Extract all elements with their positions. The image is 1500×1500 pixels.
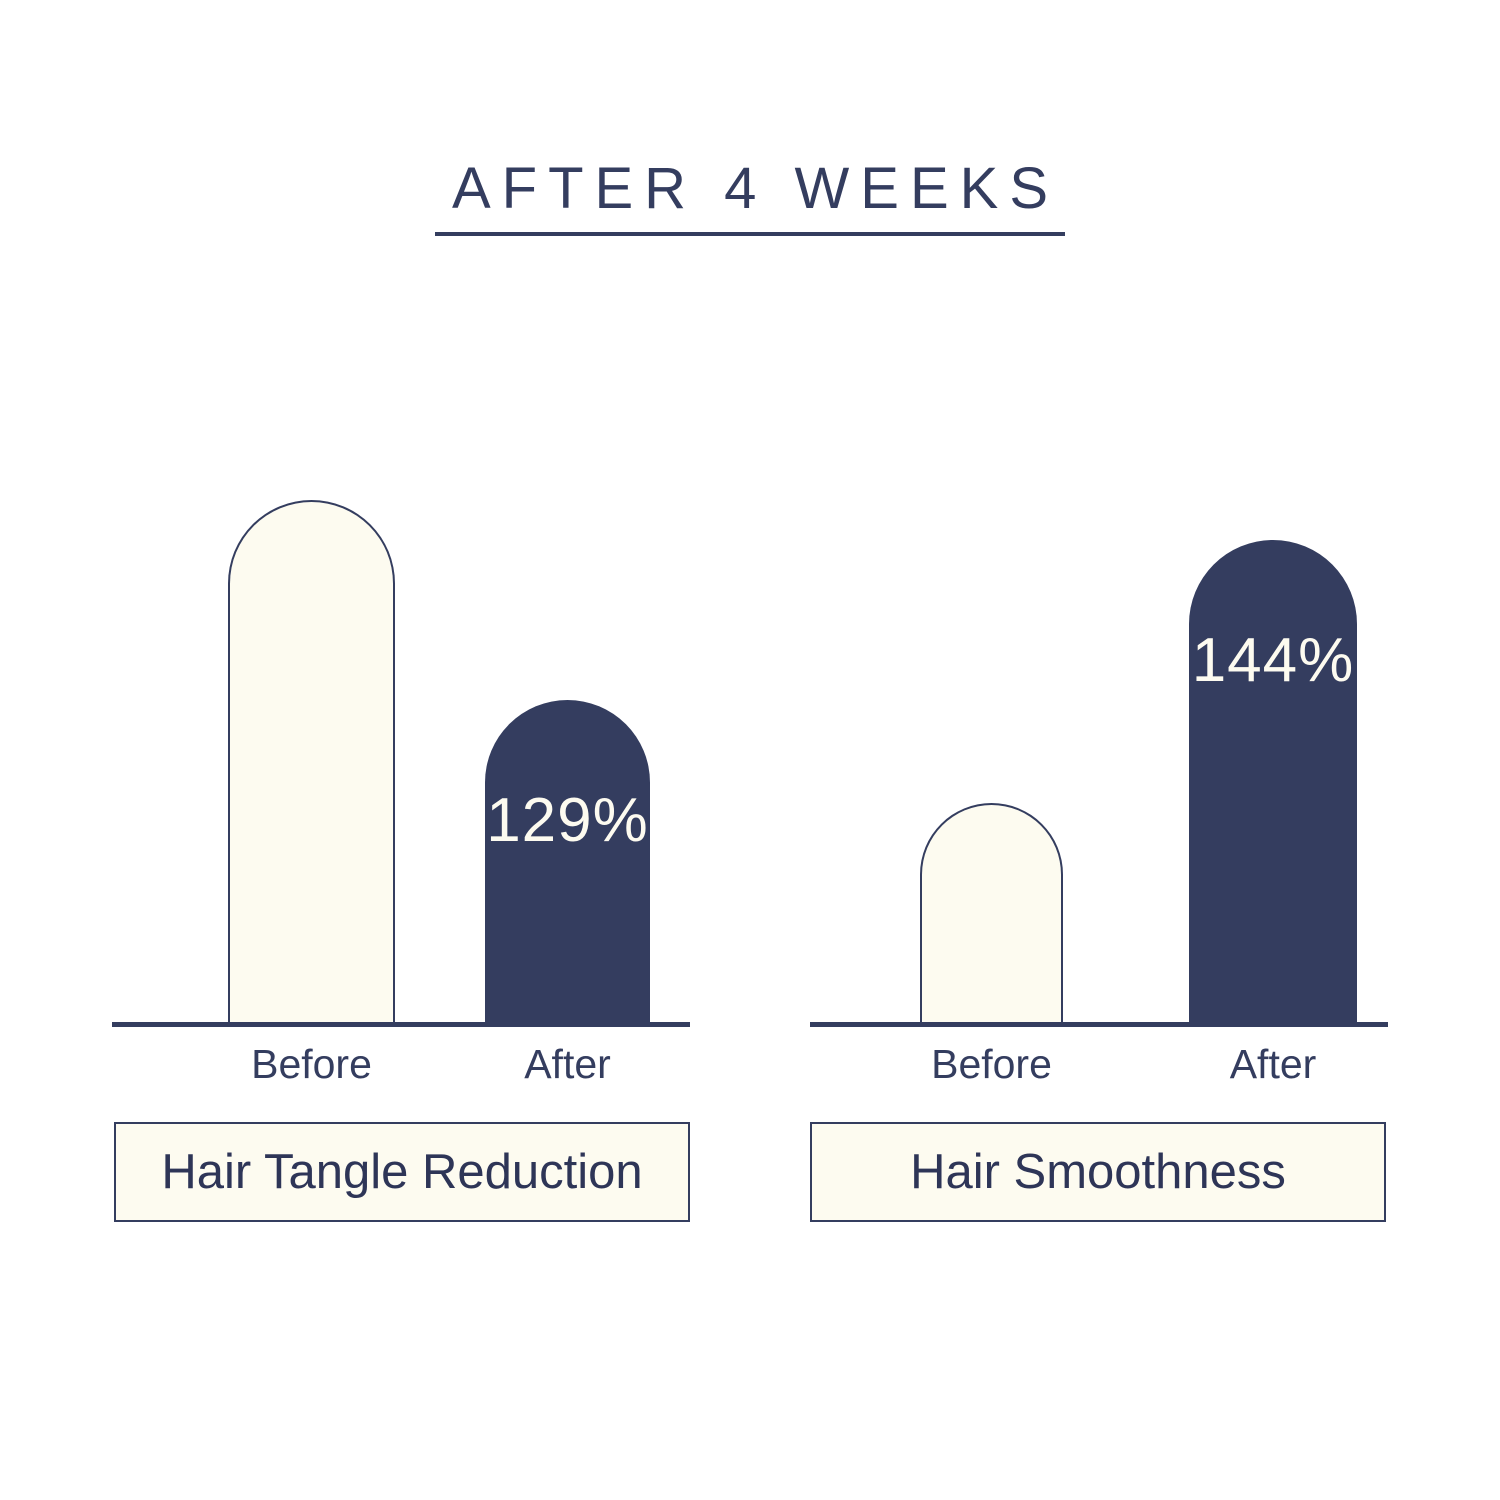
tick-labels-left: Before After — [112, 1022, 690, 1102]
caption-text-hair-smoothness: Hair Smoothness — [910, 1148, 1286, 1197]
bar-after-right: 144% — [1189, 540, 1357, 1022]
bar-before-left — [228, 500, 395, 1022]
caption-box-hair-tangle-reduction: Hair Tangle Reduction — [114, 1122, 690, 1222]
caption-text-hair-tangle-reduction: Hair Tangle Reduction — [161, 1148, 642, 1197]
caption-box-hair-smoothness: Hair Smoothness — [810, 1122, 1386, 1222]
infographic-root: AFTER 4 WEEKS 129% Before After Hair Tan… — [0, 0, 1500, 1500]
tick-label-before-left: Before — [228, 1044, 395, 1085]
tick-labels-right: Before After — [810, 1022, 1388, 1102]
chart-group-hair-tangle-reduction: 129% Before After Hair Tangle Reduction — [50, 0, 750, 1500]
tick-label-after-left: After — [485, 1044, 650, 1085]
bar-after-left: 129% — [485, 700, 650, 1022]
bar-value-label-right: 144% — [1189, 630, 1357, 692]
plot-area-right: 144% — [810, 420, 1388, 1022]
bar-value-label-left: 129% — [485, 790, 650, 852]
tick-label-before-right: Before — [920, 1044, 1063, 1085]
bar-before-right — [920, 803, 1063, 1022]
chart-group-hair-smoothness: 144% Before After Hair Smoothness — [748, 0, 1448, 1500]
tick-label-after-right: After — [1189, 1044, 1357, 1085]
plot-area-left: 129% — [112, 420, 690, 1022]
